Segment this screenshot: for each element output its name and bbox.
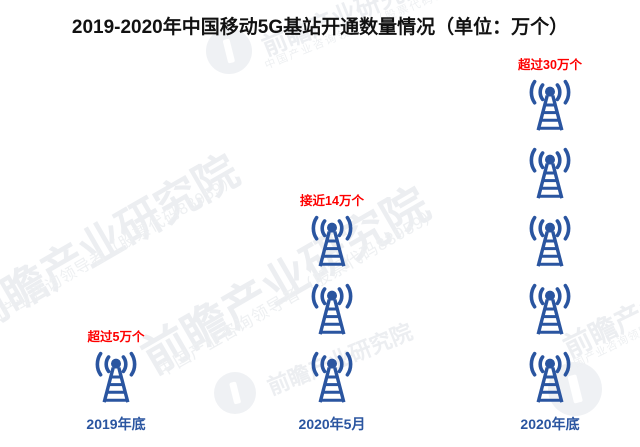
tower-stack bbox=[90, 351, 142, 405]
period-label: 2020年底 bbox=[520, 414, 579, 434]
tower-stack bbox=[524, 79, 576, 405]
cell-tower-icon bbox=[524, 351, 576, 405]
cell-tower-icon bbox=[90, 351, 142, 405]
cell-tower-icon bbox=[524, 215, 576, 269]
period-label: 2019年底 bbox=[86, 414, 145, 434]
cell-tower-icon bbox=[306, 351, 358, 405]
pictogram-column: 超过30万个 2020年底 bbox=[462, 54, 638, 447]
cell-tower-icon bbox=[524, 79, 576, 133]
pictogram-columns: 超过5万个 2019年底 接近14万个 2020年5月 超过30万个 2020年… bbox=[0, 0, 640, 447]
cell-tower-icon bbox=[524, 283, 576, 337]
infographic-canvas: 前瞻产业研究院 中国产业咨询领导者（股票代码83959） 前瞻产业研究院 中国产… bbox=[0, 0, 640, 447]
pictogram-column: 接近14万个 2020年5月 bbox=[244, 190, 420, 447]
cell-tower-icon bbox=[306, 215, 358, 269]
tower-stack bbox=[306, 215, 358, 405]
cell-tower-icon bbox=[524, 147, 576, 201]
chart-title: 2019-2020年中国移动5G基站开通数量情况（单位：万个） bbox=[0, 12, 640, 39]
cell-tower-icon bbox=[306, 283, 358, 337]
period-label: 2020年5月 bbox=[299, 414, 366, 434]
value-label: 超过5万个 bbox=[88, 326, 145, 345]
pictogram-column: 超过5万个 2019年底 bbox=[28, 326, 204, 447]
value-label: 接近14万个 bbox=[300, 190, 364, 209]
value-label: 超过30万个 bbox=[518, 54, 582, 73]
